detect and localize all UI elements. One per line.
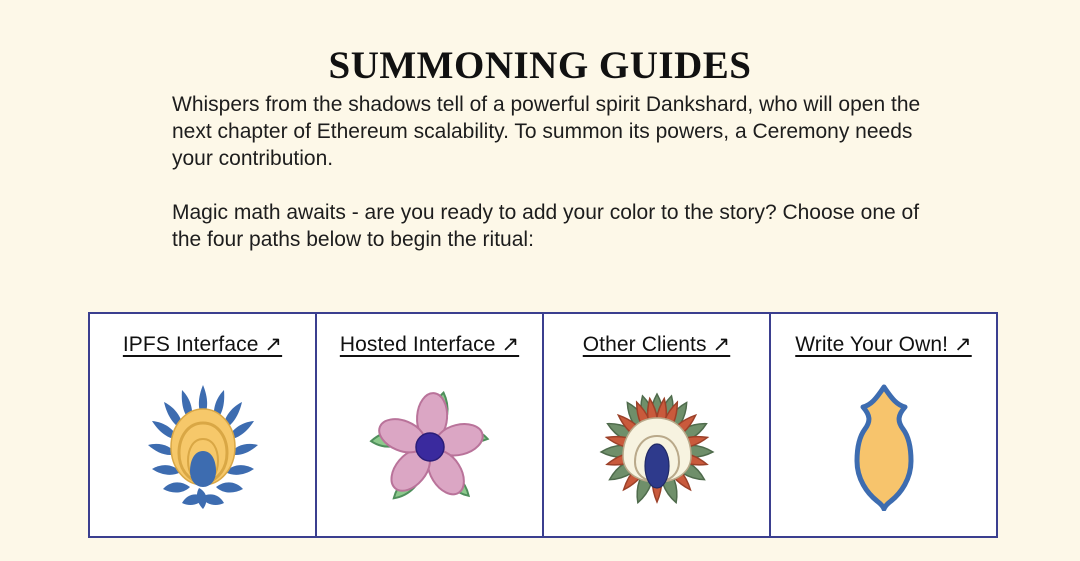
guide-card-label[interactable]: Hosted Interface ↗ <box>340 332 519 357</box>
pink-five-petal-flower-illustration <box>317 357 542 536</box>
guide-card-label[interactable]: Write Your Own! ↗ <box>795 332 971 357</box>
orange-bloom-with-leaves-illustration <box>544 357 769 536</box>
blue-lotus-flower-illustration <box>90 357 315 536</box>
golden-shield-sigil-illustration <box>771 357 996 536</box>
summoning-guides-page: SUMMONING GUIDES Whispers from the shado… <box>0 0 1080 561</box>
guide-paths-grid: IPFS Interface ↗ <box>88 312 998 538</box>
intro-copy: Whispers from the shadows tell of a powe… <box>172 91 932 253</box>
guide-card-label[interactable]: Other Clients ↗ <box>583 332 730 357</box>
guide-card-hosted-interface[interactable]: Hosted Interface ↗ <box>317 314 544 536</box>
guide-card-other-clients[interactable]: Other Clients ↗ <box>544 314 771 536</box>
guide-card-write-your-own[interactable]: Write Your Own! ↗ <box>771 314 996 536</box>
guide-card-label[interactable]: IPFS Interface ↗ <box>123 332 282 357</box>
intro-paragraph-2: Magic math awaits - are you ready to add… <box>172 199 932 253</box>
intro-paragraph-1: Whispers from the shadows tell of a powe… <box>172 91 932 172</box>
guide-card-ipfs-interface[interactable]: IPFS Interface ↗ <box>90 314 317 536</box>
page-title: SUMMONING GUIDES <box>0 43 1080 89</box>
